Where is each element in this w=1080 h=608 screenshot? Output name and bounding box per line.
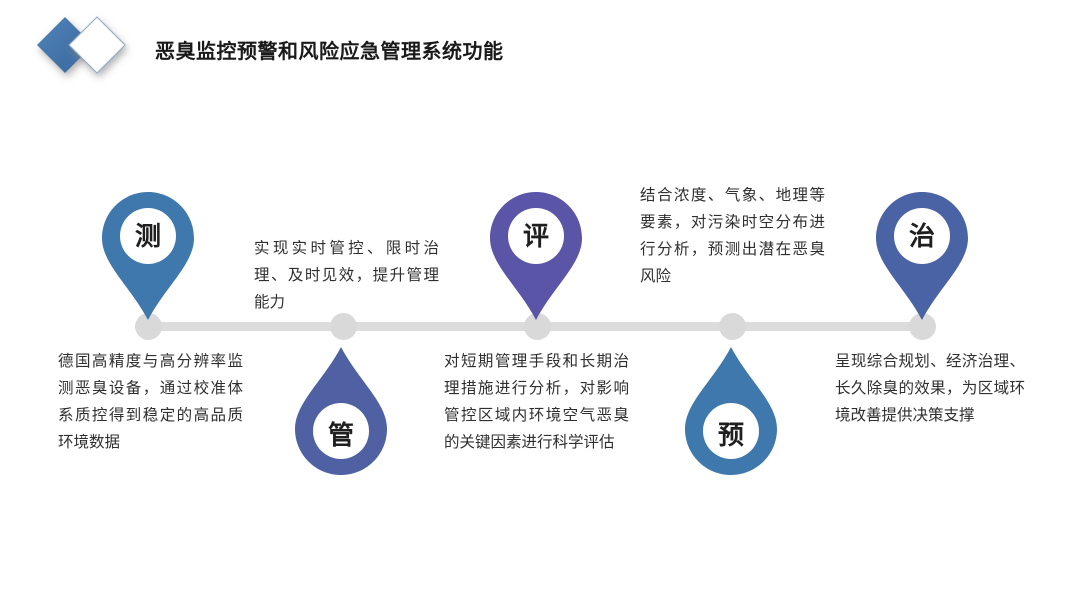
water-drop-icon [683,345,779,477]
description-predict: 结合浓度、气象、地理等要素，对污染时空分布进行分析，预测出潜在恶臭风险 [640,182,825,290]
description-measure: 德国高精度与高分辨率监测恶臭设备，通过校准体系质控得到稳定的高品质环境数据 [58,348,243,456]
double-diamond-logo [34,12,144,84]
marker-evaluate[interactable]: 评 [488,190,584,316]
description-treat: 呈现综合规划、经济治理、长久除臭的效果，为区域环境改善提供决策支撑 [835,348,1025,429]
description-manage: 实现实时管控、限时治理、及时见效，提升管理能力 [254,235,439,316]
timeline-bar [148,322,923,331]
map-pin-icon [874,190,970,322]
timeline-dot-2 [330,313,357,340]
map-pin-icon [100,190,196,322]
marker-measure[interactable]: 测 [100,190,196,316]
map-pin-icon [488,190,584,322]
description-evaluate: 对短期管理手段和长期治理措施进行分析，对影响管控区域内环境空气恶臭的关键因素进行… [444,348,629,456]
marker-predict[interactable]: 预 [683,345,779,471]
marker-treat[interactable]: 治 [874,190,970,316]
water-drop-icon [293,345,389,477]
page-title: 恶臭监控预警和风险应急管理系统功能 [155,35,504,64]
timeline-dot-4 [719,313,746,340]
page-header: 恶臭监控预警和风险应急管理系统功能 [0,0,1080,96]
marker-manage[interactable]: 管 [293,345,389,471]
